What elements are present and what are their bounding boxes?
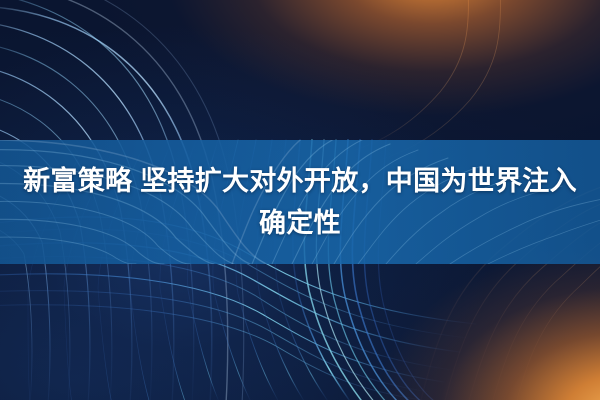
banner-headline: 新富策略 坚持扩大对外开放，中国为世界注入确定性 <box>0 140 600 264</box>
news-banner-image: 新富策略 坚持扩大对外开放，中国为世界注入确定性 <box>0 0 600 400</box>
